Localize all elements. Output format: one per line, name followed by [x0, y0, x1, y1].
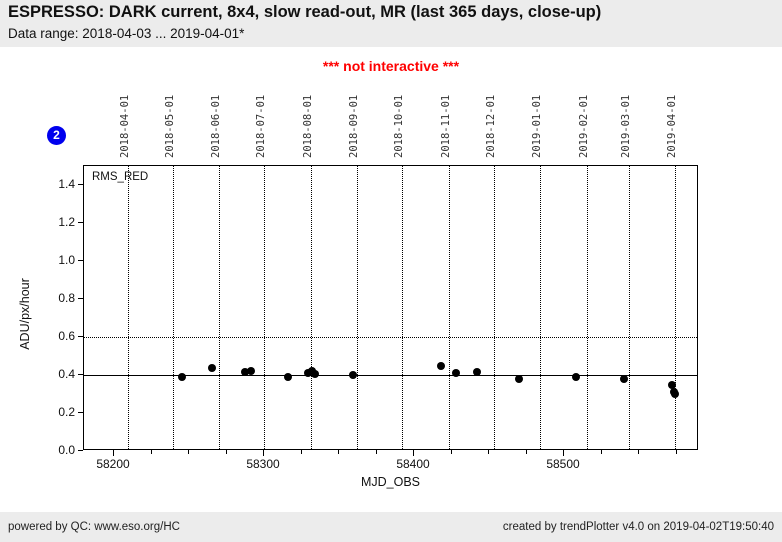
data-point[interactable]	[437, 362, 445, 370]
y-tick-label: 0.8	[35, 291, 75, 305]
x-tick-label: 58400	[396, 457, 429, 471]
x-tick-label: 58200	[96, 457, 129, 471]
top-date-label: 2018-10-01	[393, 95, 405, 158]
x-tick-mark-minor	[188, 450, 189, 454]
data-point[interactable]	[247, 367, 255, 375]
mean-reference-line	[84, 375, 697, 376]
x-tick-mark-minor	[338, 450, 339, 454]
top-date-label: 2018-07-01	[255, 95, 267, 158]
page-title: ESPRESSO: DARK current, 8x4, slow read-o…	[8, 3, 601, 22]
top-date-label: 2018-05-01	[164, 95, 176, 158]
data-range-subtitle: Data range: 2018-04-03 ... 2019-04-01*	[8, 26, 244, 41]
x-tick-mark-minor	[638, 450, 639, 454]
vertical-gridline	[402, 166, 403, 449]
threshold-gridline	[84, 337, 697, 338]
y-tick-label: 0.0	[35, 443, 75, 457]
vertical-gridline	[357, 166, 358, 449]
data-point[interactable]	[671, 390, 679, 398]
top-date-label: 2018-06-01	[210, 95, 222, 158]
x-tick-mark-minor	[676, 450, 677, 454]
vertical-gridline	[128, 166, 129, 449]
vertical-gridline	[264, 166, 265, 449]
vertical-gridline	[494, 166, 495, 449]
data-point[interactable]	[515, 375, 523, 383]
top-date-label: 2019-03-01	[620, 95, 632, 158]
y-tick-label: 1.2	[35, 215, 75, 229]
y-tick-label: 0.6	[35, 329, 75, 343]
x-axis-tick-marks	[83, 450, 698, 456]
x-tick-mark-minor	[488, 450, 489, 454]
x-axis-title: MJD_OBS	[83, 475, 698, 489]
plot-area[interactable]	[84, 166, 697, 449]
y-tick-label: 1.0	[35, 253, 75, 267]
vertical-gridline	[173, 166, 174, 449]
x-tick-mark-minor	[151, 450, 152, 454]
x-tick-mark-minor	[601, 450, 602, 454]
data-point[interactable]	[349, 371, 357, 379]
data-point[interactable]	[284, 373, 292, 381]
vertical-gridline	[675, 166, 676, 449]
top-date-axis: 2018-04-012018-05-012018-06-012018-07-01…	[0, 84, 782, 158]
data-point[interactable]	[572, 373, 580, 381]
x-tick-mark-minor	[451, 450, 452, 454]
x-tick-mark-major	[113, 450, 114, 456]
footer-credit-left: powered by QC: www.eso.org/HC	[8, 521, 180, 533]
y-axis-title: ADU/px/hour	[18, 244, 32, 384]
vertical-gridline	[219, 166, 220, 449]
x-tick-mark-minor	[376, 450, 377, 454]
not-interactive-notice: *** not interactive ***	[0, 58, 782, 74]
vertical-gridline	[540, 166, 541, 449]
vertical-gridline	[449, 166, 450, 449]
y-tick-label: 0.4	[35, 367, 75, 381]
top-date-label: 2018-12-01	[485, 95, 497, 158]
top-date-label: 2019-02-01	[578, 95, 590, 158]
y-tick-label: 0.2	[35, 405, 75, 419]
x-tick-mark-minor	[301, 450, 302, 454]
x-tick-mark-major	[263, 450, 264, 456]
data-point[interactable]	[311, 370, 319, 378]
y-axis-tick-labels: 0.00.20.40.60.81.01.21.4	[30, 165, 75, 450]
y-tick-label: 1.4	[35, 177, 75, 191]
top-date-label: 2018-04-01	[119, 95, 131, 158]
top-date-label: 2019-04-01	[666, 95, 678, 158]
plot-annotation: RMS_RED	[92, 171, 148, 183]
x-tick-label: 58300	[246, 457, 279, 471]
top-date-label: 2018-08-01	[302, 95, 314, 158]
x-tick-mark-minor	[226, 450, 227, 454]
data-point[interactable]	[208, 364, 216, 372]
top-date-label: 2018-11-01	[440, 95, 452, 158]
x-tick-label: 58500	[546, 457, 579, 471]
top-date-label: 2019-01-01	[531, 95, 543, 158]
data-point[interactable]	[620, 375, 628, 383]
data-point[interactable]	[178, 373, 186, 381]
plot-frame: RMS_RED	[83, 165, 698, 450]
footer-credit-right: created by trendPlotter v4.0 on 2019-04-…	[503, 521, 774, 533]
x-tick-mark-major	[413, 450, 414, 456]
vertical-gridline	[629, 166, 630, 449]
vertical-gridline	[311, 166, 312, 449]
top-date-label: 2018-09-01	[348, 95, 360, 158]
vertical-gridline	[587, 166, 588, 449]
x-tick-mark-minor	[526, 450, 527, 454]
x-tick-mark-major	[563, 450, 564, 456]
